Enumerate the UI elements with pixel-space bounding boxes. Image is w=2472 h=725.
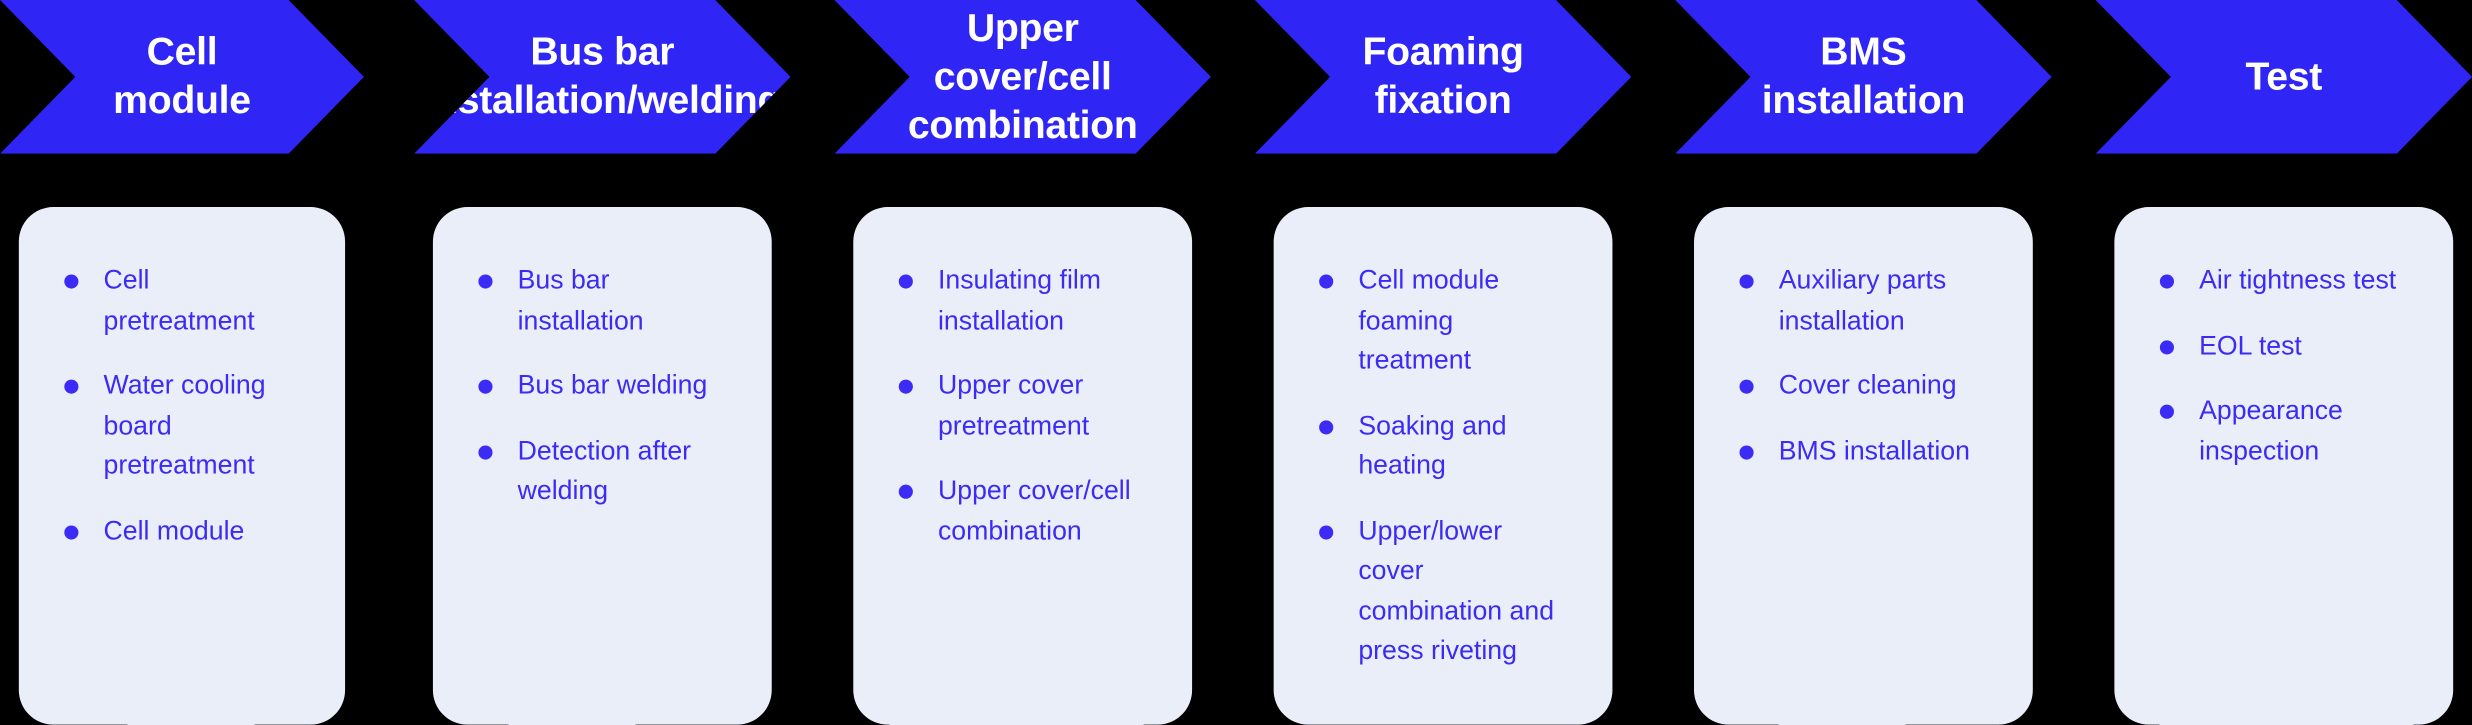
task-label: EOL test [2199, 330, 2302, 360]
task-label: Water cooling board pretreatment [104, 370, 266, 480]
list-item: Bus bar welding [474, 365, 731, 405]
task-label: Cell module [104, 515, 245, 545]
bullet-icon [1319, 274, 1333, 288]
stage-card-2: Bus bar installation Bus bar welding Det… [433, 207, 772, 725]
task-label: Detection after welding [518, 435, 691, 505]
bullet-icon [899, 485, 913, 499]
stage-header-chevron-3[interactable]: Upper cover/cell combination [834, 0, 1210, 154]
list-item: Appearance inspection [2155, 391, 2412, 471]
task-label: Appearance inspection [2199, 395, 2343, 465]
task-label: Insulating film installation [938, 265, 1101, 335]
bullet-icon [1319, 525, 1333, 539]
task-list-6: Air tightness test EOL test Appearance i… [2155, 260, 2412, 470]
bullet-icon [64, 274, 78, 288]
stage-column-1: Cell module Cell pretreatment Water cool… [0, 0, 364, 715]
bullet-icon [478, 274, 492, 288]
bullet-icon [64, 380, 78, 394]
task-label: BMS installation [1779, 435, 1970, 465]
list-item: Cell module [60, 511, 305, 551]
stage-title-5: BMS installation [1762, 28, 1965, 125]
list-item: Detection after welding [474, 431, 731, 511]
list-item: Upper cover pretreatment [894, 365, 1151, 445]
stage-title-2: Bus bar installation/welding [424, 28, 782, 125]
task-list-2: Bus bar installation Bus bar welding Det… [474, 260, 731, 510]
stage-card-3: Insulating film installation Upper cover… [853, 207, 1192, 725]
stage-column-2: Bus bar installation/welding Bus bar ins… [414, 0, 790, 715]
stage-header-chevron-4[interactable]: Foaming fixation [1255, 0, 1631, 154]
task-label: Upper/lower cover combination and press … [1358, 515, 1554, 665]
stage-card-1: Cell pretreatment Water cooling board pr… [19, 207, 345, 725]
stage-column-6: Test Air tightness test EOL test Appeara… [2096, 0, 2472, 715]
bullet-icon [1739, 445, 1753, 459]
stage-header-chevron-2[interactable]: Bus bar installation/welding [414, 0, 790, 154]
list-item: Insulating film installation [894, 260, 1151, 340]
task-label: Bus bar welding [518, 370, 708, 400]
task-list-5: Auxiliary parts installation Cover clean… [1735, 260, 1992, 470]
list-item: Air tightness test [2155, 260, 2412, 300]
task-list-4: Cell module foaming treatment Soaking an… [1314, 260, 1571, 670]
stage-card-6: Air tightness test EOL test Appearance i… [2114, 207, 2453, 725]
stage-column-3: Upper cover/cell combination Insulating … [834, 0, 1210, 715]
bullet-icon [2160, 274, 2174, 288]
task-label: Air tightness test [2199, 265, 2396, 295]
list-item: Upper cover/cell combination [894, 471, 1151, 551]
bullet-icon [1739, 380, 1753, 394]
task-label: Upper cover/cell combination [938, 475, 1131, 545]
task-label: Bus bar installation [518, 265, 644, 335]
list-item: BMS installation [1735, 431, 1992, 471]
stage-header-chevron-5[interactable]: BMS installation [1675, 0, 2051, 154]
list-item: Soaking and heating [1314, 405, 1571, 485]
list-item: Bus bar installation [474, 260, 731, 340]
task-label: Cover cleaning [1779, 370, 1957, 400]
bullet-icon [899, 274, 913, 288]
stage-card-4: Cell module foaming treatment Soaking an… [1274, 207, 1613, 725]
stage-title-4: Foaming fixation [1346, 28, 1540, 125]
list-item: Upper/lower cover combination and press … [1314, 511, 1571, 671]
bullet-icon [2160, 405, 2174, 419]
stage-header-chevron-1[interactable]: Cell module [0, 0, 364, 154]
task-label: Auxiliary parts installation [1779, 265, 1946, 335]
list-item: Cell pretreatment [60, 260, 305, 340]
task-label: Cell pretreatment [104, 265, 255, 335]
bullet-icon [1319, 420, 1333, 434]
bullet-icon [478, 445, 492, 459]
task-label: Soaking and heating [1358, 410, 1506, 480]
task-list-1: Cell pretreatment Water cooling board pr… [60, 260, 305, 550]
list-item: EOL test [2155, 325, 2412, 365]
stage-card-5: Auxiliary parts installation Cover clean… [1694, 207, 2033, 725]
stage-header-chevron-6[interactable]: Test [2096, 0, 2472, 154]
bullet-icon [64, 525, 78, 539]
task-label: Cell module foaming treatment [1358, 265, 1499, 375]
list-item: Cover cleaning [1735, 365, 1992, 405]
list-item: Auxiliary parts installation [1735, 260, 1992, 340]
stage-column-4: Foaming fixation Cell module foaming tre… [1255, 0, 1631, 715]
task-list-3: Insulating film installation Upper cover… [894, 260, 1151, 550]
bullet-icon [2160, 340, 2174, 354]
bullet-icon [1739, 274, 1753, 288]
bullet-icon [478, 380, 492, 394]
stage-title-1: Cell module [91, 28, 273, 125]
stage-column-5: BMS installation Auxiliary parts install… [1675, 0, 2051, 715]
stage-title-3: Upper cover/cell combination [908, 4, 1138, 150]
process-flow-diagram: Cell module Cell pretreatment Water cool… [0, 0, 2472, 456]
bullet-icon [899, 380, 913, 394]
stage-title-6: Test [2246, 53, 2322, 102]
task-label: Upper cover pretreatment [938, 370, 1089, 440]
list-item: Water cooling board pretreatment [60, 365, 305, 485]
list-item: Cell module foaming treatment [1314, 260, 1571, 380]
